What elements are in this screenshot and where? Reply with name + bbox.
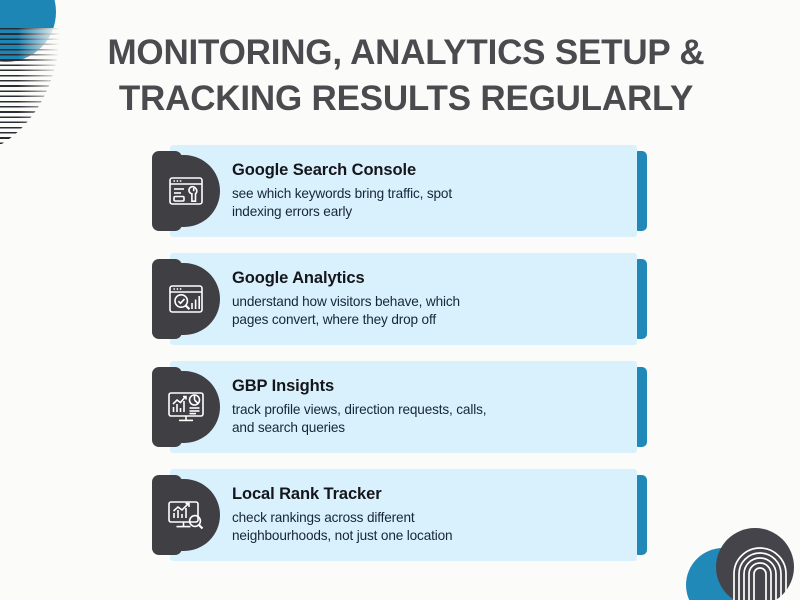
info-card: Local Rank Tracker check rankings across… (152, 469, 647, 561)
card-description: see which keywords bring traffic, spot i… (232, 185, 621, 222)
card-title: Google Analytics (232, 269, 621, 288)
page-title: MONITORING, ANALYTICS SETUP & TRACKING R… (96, 30, 716, 122)
info-card: Google Search Console see which keywords… (152, 145, 647, 237)
card-text: Google Analytics understand how visitors… (232, 269, 621, 330)
card-title: GBP Insights (232, 377, 621, 396)
info-card: GBP Insights track profile views, direct… (152, 361, 647, 453)
card-description: track profile views, direction requests,… (232, 401, 621, 438)
bottom-right-arcs-decoration (722, 534, 798, 600)
card-text: Google Search Console see which keywords… (232, 161, 621, 222)
monitor-analytics-icon (166, 387, 206, 427)
browser-magnifier-chart-icon (166, 279, 206, 319)
infographic-canvas: MONITORING, ANALYTICS SETUP & TRACKING R… (0, 0, 800, 600)
browser-wrench-icon (166, 171, 206, 211)
card-description: check rankings across different neighbou… (232, 509, 621, 546)
card-title: Google Search Console (232, 161, 621, 180)
info-card: Google Analytics understand how visitors… (152, 253, 647, 345)
top-left-striped-half-circle-decoration (0, 28, 60, 158)
monitor-growth-magnifier-icon (166, 495, 206, 535)
card-text: GBP Insights track profile views, direct… (232, 377, 621, 438)
card-text: Local Rank Tracker check rankings across… (232, 485, 621, 546)
card-description: understand how visitors behave, which pa… (232, 293, 621, 330)
card-title: Local Rank Tracker (232, 485, 621, 504)
